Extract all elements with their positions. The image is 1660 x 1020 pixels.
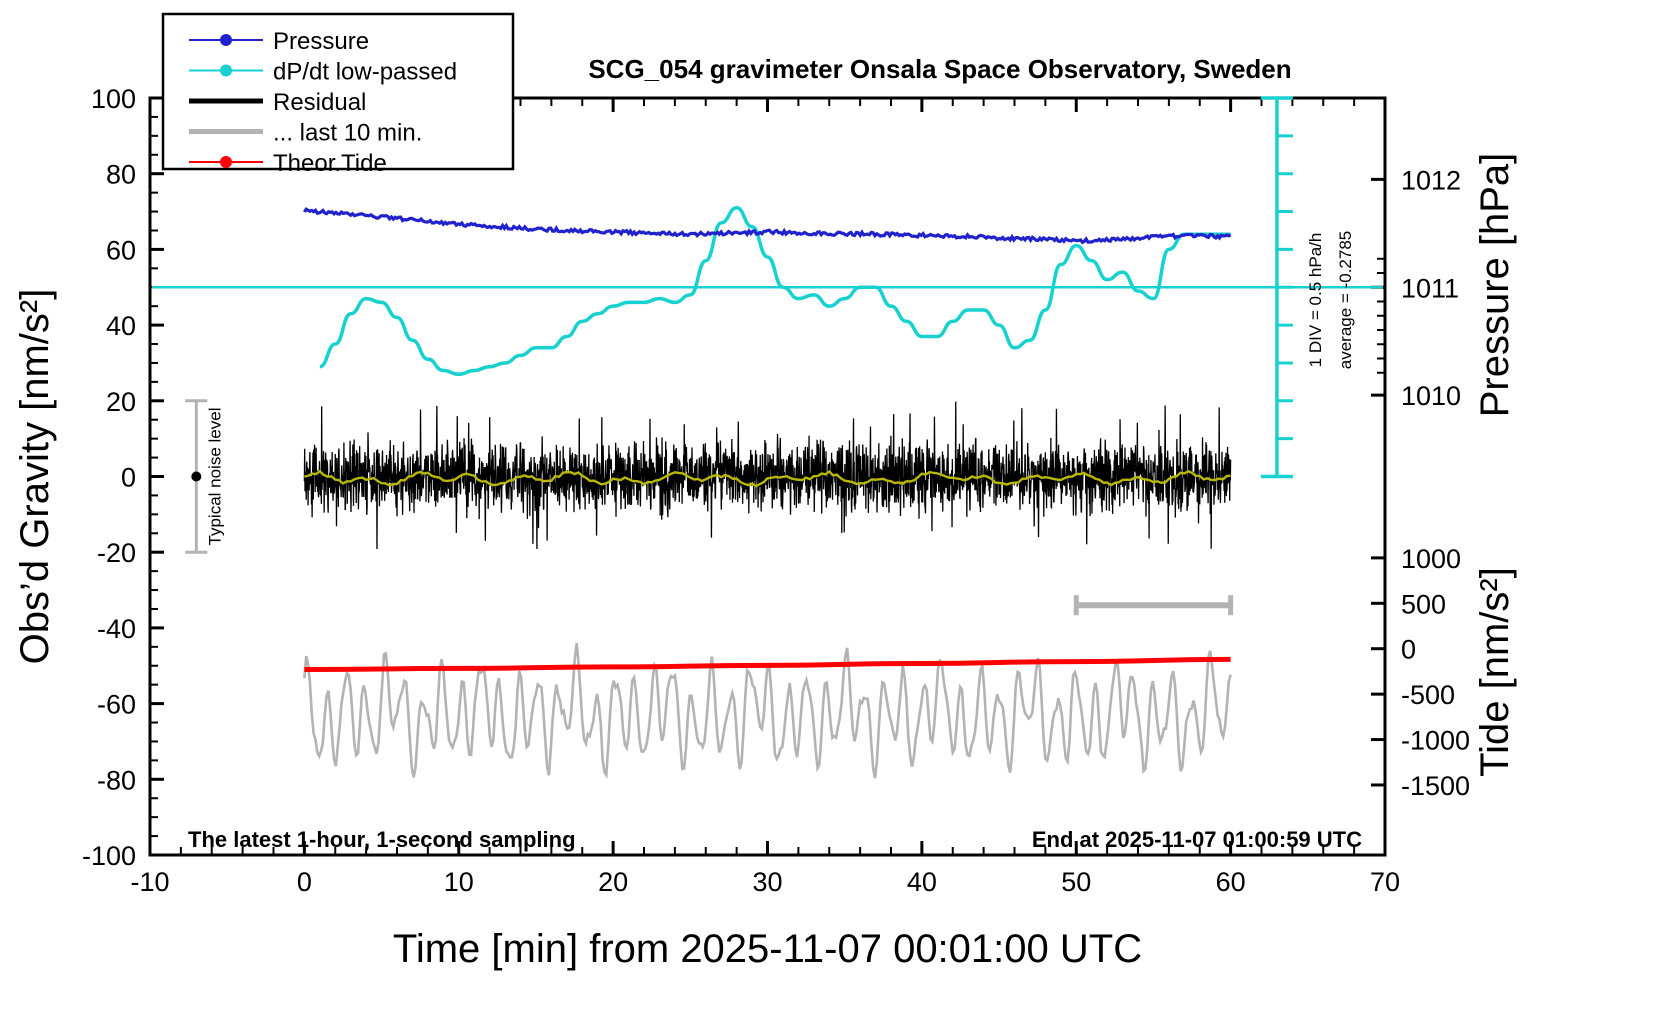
- legend-label: Pressure: [273, 28, 369, 55]
- right-axis-label-tide: Tide [nm/s²]: [1473, 567, 1517, 777]
- plot-root: -10010203040506070100806040200-20-40-60-…: [0, 0, 1660, 1020]
- y-tick-label: 80: [106, 160, 136, 190]
- tide-tick-label: -1500: [1401, 771, 1470, 801]
- gravimeter-figure: -10010203040506070100806040200-20-40-60-…: [0, 0, 1660, 1020]
- y-axis-left: 100806040200-20-40-60-80-100: [82, 84, 164, 871]
- x-tick-label: 60: [1216, 867, 1246, 897]
- legend: PressuredP/dt low-passedResidual... last…: [163, 14, 513, 177]
- y-tick-label: -100: [82, 841, 136, 871]
- y-tick-label: 100: [91, 84, 136, 114]
- legend-label: dP/dt low-passed: [273, 59, 457, 86]
- pressure-tick-label: 1012: [1401, 165, 1461, 195]
- last-10-min-bar: [1076, 595, 1230, 615]
- tide-tick-label: -500: [1401, 680, 1455, 710]
- pressure-tick-label: 1010: [1401, 381, 1461, 411]
- x-tick-label: 0: [297, 867, 312, 897]
- x-tick-label: -10: [130, 867, 169, 897]
- x-tick-label: 30: [752, 867, 782, 897]
- footer-right: End at 2025-11-07 01:00:59 UTC: [1032, 827, 1362, 852]
- footer-left: The latest 1-hour, 1-second sampling: [188, 827, 576, 852]
- tide-tick-label: 500: [1401, 589, 1446, 619]
- series-pressure: [304, 209, 1230, 242]
- tide-tick-label: 0: [1401, 635, 1416, 665]
- y-tick-label: 60: [106, 235, 136, 265]
- x-axis-label: Time [min] from 2025-11-07 00:01:00 UTC: [393, 927, 1142, 971]
- legend-label: Residual: [273, 89, 366, 116]
- y-tick-label: -80: [97, 765, 136, 795]
- tide-tick-label: 1000: [1401, 544, 1461, 574]
- pressure-tick-label: 1011: [1401, 273, 1459, 303]
- y-tick-label: 40: [106, 311, 136, 341]
- dpdt-average-label: average = -0.2785: [1336, 231, 1355, 369]
- right-axis-label-pressure: Pressure [hPa]: [1473, 153, 1517, 418]
- x-tick-label: 20: [598, 867, 628, 897]
- y-tick-label: -20: [97, 538, 136, 568]
- tide-tick-label: -1000: [1401, 726, 1470, 756]
- y-tick-label: -40: [97, 614, 136, 644]
- noise-level-marker: Typical noise level: [185, 401, 224, 552]
- noise-level-label: Typical noise level: [205, 408, 224, 546]
- y-tick-label: 20: [106, 387, 136, 417]
- x-tick-label: 10: [444, 867, 474, 897]
- dpdt-scale-label: 1 DIV = 0.5 hPa/h: [1306, 233, 1325, 368]
- y-tick-label: 0: [121, 463, 136, 493]
- page-title: SCG_054 gravimeter Onsala Space Observat…: [588, 54, 1291, 84]
- legend-label: Theor.Tide: [273, 150, 387, 177]
- legend-label: ... last 10 min.: [273, 120, 422, 147]
- y-axis-label: Obs’d Gravity [nm/s²]: [13, 289, 57, 665]
- x-tick-label: 40: [907, 867, 937, 897]
- x-tick-label: 70: [1370, 867, 1400, 897]
- y-tick-label: -60: [97, 690, 136, 720]
- x-tick-label: 50: [1061, 867, 1091, 897]
